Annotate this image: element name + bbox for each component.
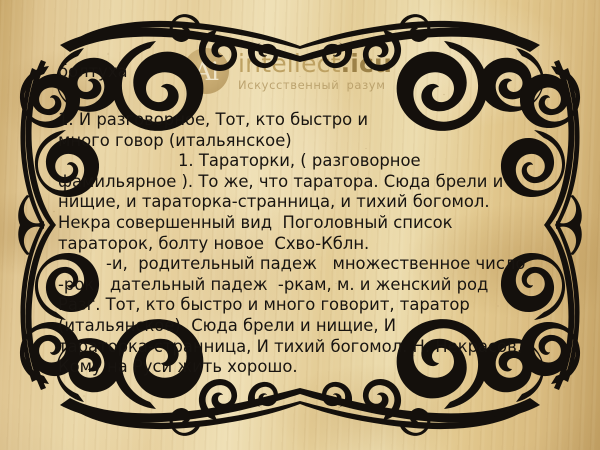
article-line: фамильярное ). То же, что таратора. Сюда… [58, 172, 558, 193]
article-line: тараторка-странница, И тихий богомол. Н.… [58, 337, 558, 358]
article-line: -и, родительный падеж множественное числ… [58, 254, 558, 275]
article-line: тараторок, болту новое Схво-Кблн. [58, 234, 558, 255]
article-line: Кому на Руси жить хорошо. [58, 357, 558, 378]
parchment-page: Ai intellect.icu Искусственный разум [0, 0, 600, 450]
article-line: (итальянское) Сюда брели и нищие, И [58, 316, 558, 337]
article-line: 1. И разговорное, Тот, кто быстро и [58, 110, 558, 131]
article-body: 1. И разговорное, Тот, кто быстро имного… [58, 110, 558, 378]
article-line: Некра совершенный вид Поголовный список [58, 213, 558, 234]
article-line: 1. Тараторки, ( разговорное [58, 151, 558, 172]
article-line: Разг. Тот, кто быстро и много говорит, т… [58, 295, 558, 316]
dictionary-article: болтуха 1. И разговорное, Тот, кто быстр… [58, 62, 558, 378]
article-line: много говор (итальянское) [58, 131, 558, 152]
article-line: нищие, и тараторка-странница, и тихий бо… [58, 192, 558, 213]
headword: болтуха [58, 62, 558, 82]
article-line: -рок, дательный падеж -ркам, м. и женски… [58, 275, 558, 296]
